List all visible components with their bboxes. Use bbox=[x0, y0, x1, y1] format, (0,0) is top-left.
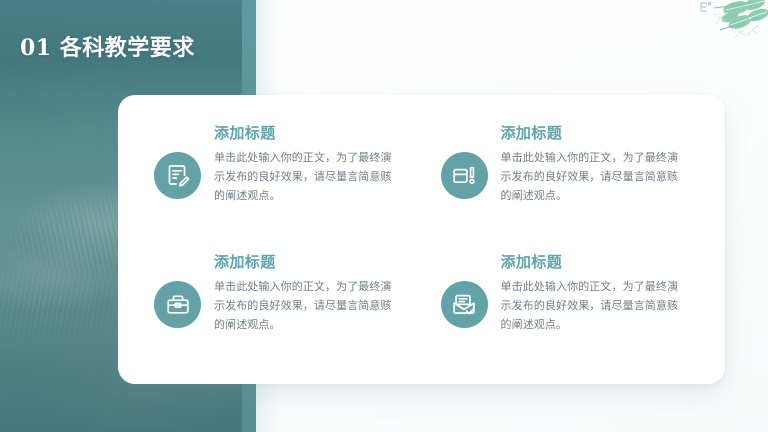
feature-text: 添加标题 单击此处输入你的正文，为了最终演示发布的良好效果，请尽量言简意赅的阐述… bbox=[214, 251, 419, 334]
feature-title: 添加标题 bbox=[214, 123, 419, 143]
presentation-board-icon[interactable] bbox=[441, 152, 488, 199]
feature-grid: 添加标题 单击此处输入你的正文，为了最终演示发布的良好效果，请尽量言简意赅的阐述… bbox=[118, 95, 725, 384]
feature-title: 添加标题 bbox=[214, 252, 419, 272]
feature-item[interactable]: 添加标题 单击此处输入你的正文，为了最终演示发布的良好效果，请尽量言简意赅的阐述… bbox=[154, 122, 419, 233]
feature-body: 单击此处输入你的正文，为了最终演示发布的良好效果，请尽量言简意赅的阐述观点。 bbox=[501, 148, 687, 205]
feature-item[interactable]: 添加标题 单击此处输入你的正文，为了最终演示发布的良好效果，请尽量言简意赅的阐述… bbox=[441, 251, 706, 362]
mail-check-icon[interactable] bbox=[441, 281, 488, 328]
feature-item[interactable]: 添加标题 单击此处输入你的正文，为了最终演示发布的良好效果，请尽量言简意赅的阐述… bbox=[441, 122, 706, 233]
feature-text: 添加标题 单击此处输入你的正文，为了最终演示发布的良好效果，请尽量言简意赅的阐述… bbox=[214, 122, 419, 205]
feature-body: 单击此处输入你的正文，为了最终演示发布的良好效果，请尽量言简意赅的阐述观点。 bbox=[214, 148, 400, 205]
feature-title: 添加标题 bbox=[501, 123, 706, 143]
feature-item[interactable]: 添加标题 单击此处输入你的正文，为了最终演示发布的良好效果，请尽量言简意赅的阐述… bbox=[154, 251, 419, 362]
feature-text: 添加标题 单击此处输入你的正文，为了最终演示发布的良好效果，请尽量言简意赅的阐述… bbox=[501, 122, 706, 205]
leaf-branch-decoration bbox=[680, 0, 768, 52]
feature-text: 添加标题 单击此处输入你的正文，为了最终演示发布的良好效果，请尽量言简意赅的阐述… bbox=[501, 251, 706, 334]
page-title: 01 各科教学要求 bbox=[20, 33, 195, 63]
slide-canvas: 01 各科教学要求 bbox=[0, 0, 768, 432]
document-edit-icon[interactable] bbox=[154, 152, 201, 199]
feature-body: 单击此处输入你的正文，为了最终演示发布的良好效果，请尽量言简意赅的阐述观点。 bbox=[501, 277, 687, 334]
feature-body: 单击此处输入你的正文，为了最终演示发布的良好效果，请尽量言简意赅的阐述观点。 bbox=[214, 277, 400, 334]
content-card: 添加标题 单击此处输入你的正文，为了最终演示发布的良好效果，请尽量言简意赅的阐述… bbox=[118, 95, 725, 384]
feature-title: 添加标题 bbox=[501, 252, 706, 272]
briefcase-icon[interactable] bbox=[154, 281, 201, 328]
